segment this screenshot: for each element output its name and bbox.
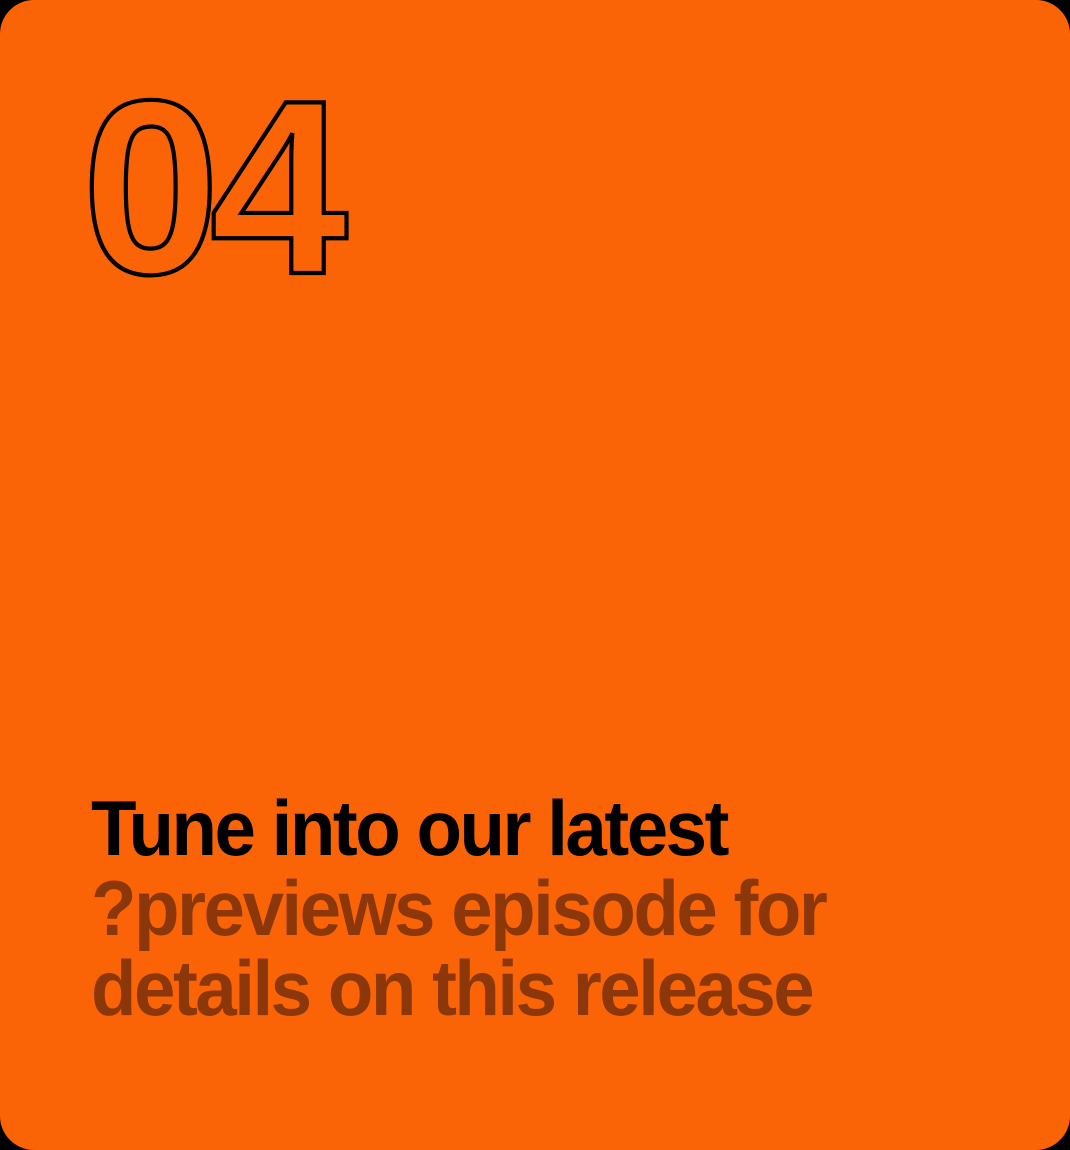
slide-number-text: 04: [82, 48, 347, 326]
headline-line-3: details on this release: [91, 948, 951, 1028]
slide-number-badge: 04: [88, 92, 358, 287]
headline-line-1: Tune into our latest: [91, 788, 951, 868]
outline-number-graphic: 04: [88, 92, 358, 287]
headline-line-2: ?previews episode for: [91, 868, 951, 948]
headline-block: Tune into our latest ?previews episode f…: [91, 788, 991, 1028]
release-card: 04 Tune into our latest ?previews episod…: [0, 0, 1070, 1150]
